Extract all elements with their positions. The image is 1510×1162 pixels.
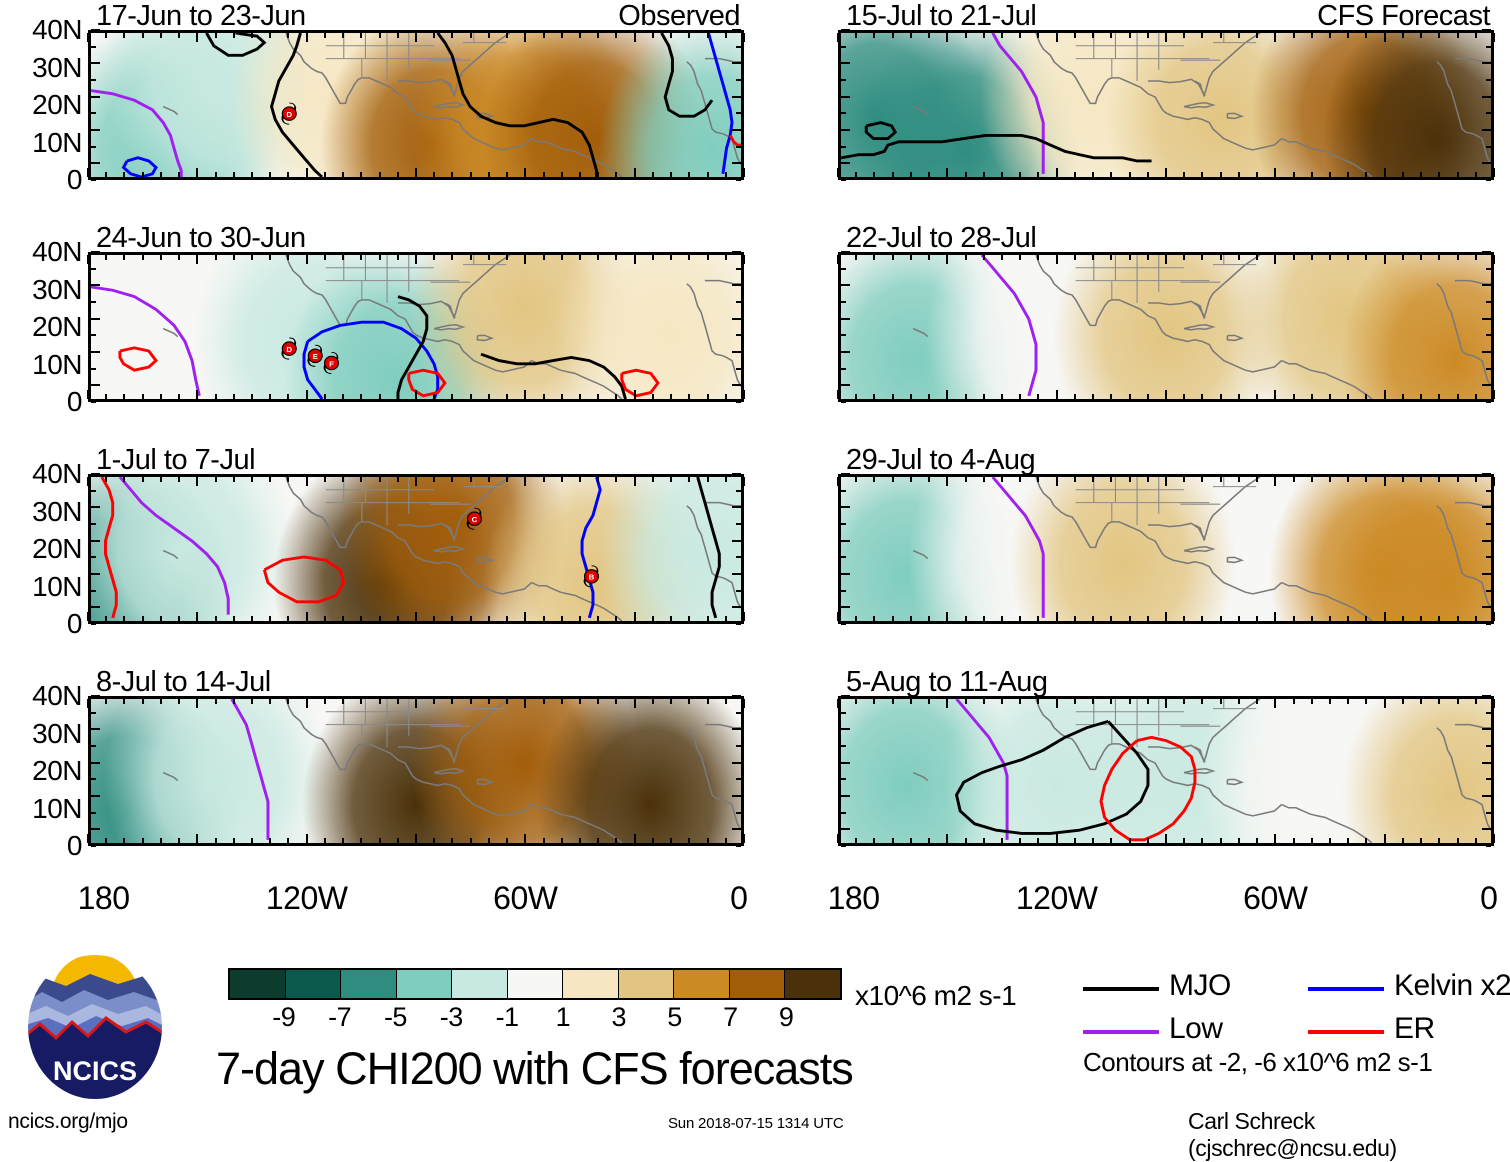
x-tick [160,255,162,260]
x-tick [1056,612,1058,621]
x-tick [965,255,967,260]
y-tick-mark [91,179,96,181]
y-tick-mark [91,384,100,386]
y-tick-mark [841,745,846,747]
x-tick [269,255,271,260]
colorbar-swatch-0 [230,970,286,998]
map-obs-2: D E F [88,252,744,402]
colorbar-units-label: x10^6 m2 s-1 [855,980,1016,1012]
y-tick-mark [1486,556,1491,558]
x-tick [87,612,89,621]
map-field-obs-3: C B [91,477,741,621]
x-tick [1201,394,1203,399]
x-tick [1220,616,1222,621]
x-tick [965,172,967,177]
x-tick [1329,616,1331,621]
x-tick [1037,477,1039,482]
x-tick [287,699,289,704]
y-tick-mark [841,812,846,814]
y-tick-mark [1486,523,1491,525]
x-tick [543,477,545,482]
x-tick [983,699,985,704]
y-tick-mark [1486,812,1491,814]
y-tick-20N: 20N [4,311,82,343]
footer-link[interactable]: ncics.org/mjo [8,1110,128,1134]
y-tick-mark [91,284,100,286]
x-tick [488,616,490,621]
x-tick [652,172,654,177]
x-tick [634,834,636,843]
x-tick [688,172,690,177]
y-tick-mark [841,79,846,81]
y-tick-mark [1486,845,1491,847]
x-tick [928,477,930,482]
x-tick [837,477,839,486]
x-tick [379,394,381,399]
y-tick-mark [841,473,850,475]
x-tick [1384,477,1386,486]
x-tick [1274,33,1276,42]
x-tick [1129,477,1131,482]
x-tick [233,255,235,260]
x-tick [379,838,381,843]
x-tick [251,616,253,621]
y-tick-mark [91,146,96,148]
y-tick-mark [1486,268,1491,270]
x-tick [287,172,289,177]
x-tick [415,699,417,708]
x-tick [215,33,217,38]
x-tick [634,699,636,708]
x-tick [1384,33,1386,42]
x-tick [215,616,217,621]
x-tick [1201,699,1203,704]
x-tick [178,477,180,482]
x-tick [1274,477,1276,486]
legend-line-swatch [1308,987,1384,991]
x-tick [946,477,948,486]
x-tick [470,394,472,399]
x-tick [360,172,362,177]
x-tick [87,390,89,399]
x-tick [1019,255,1021,260]
x-tick [1147,255,1149,260]
x-tick [196,168,198,177]
x-tick [707,838,709,843]
y-tick-mark [841,334,846,336]
x-tick [1183,699,1185,704]
x-tick [87,255,89,264]
x-tick [123,616,125,621]
x-tick [892,477,894,482]
x-tick [1129,33,1131,38]
y-tick-mark [736,556,741,558]
y-tick-mark [91,728,100,730]
x-tick [1183,838,1185,843]
x-tick [1092,394,1094,399]
x-tick [873,33,875,38]
x-tick [1329,838,1331,843]
x-tick [1274,699,1276,708]
y-tick-mark [91,401,96,403]
x-tick [196,612,198,621]
x-tick [397,33,399,38]
x-tick [1311,477,1313,482]
legend-line-swatch [1083,987,1159,991]
y-tick-mark [91,162,100,164]
map-obs-1: D [88,30,744,180]
x-tick [855,394,857,399]
x-tick [1238,616,1240,621]
x-tick [725,838,727,843]
x-tick [1147,172,1149,177]
y-tick-mark [91,540,100,542]
x-tick [1493,168,1495,177]
x-tick [1384,834,1386,843]
x-tick [1365,699,1367,704]
x-tick [105,616,107,621]
x-tick [652,33,654,38]
x-tick [910,699,912,704]
x-tick [615,33,617,38]
x-tick [142,838,144,843]
y-tick-mark [91,268,96,270]
y-tick-mark [1486,179,1491,181]
y-tick-0: 0 [4,830,82,862]
x-tick [87,834,89,843]
x-tick [251,255,253,260]
x-tick [269,616,271,621]
x-tick [910,838,912,843]
y-tick-30N: 30N [4,718,82,750]
x-tick [488,699,490,704]
x-tick [652,838,654,843]
x-tick [1183,33,1185,38]
y-tick-mark [736,334,741,336]
x-tick [743,168,745,177]
ncics-logo-svg: NCICS [22,952,168,1102]
x-tick [1019,394,1021,399]
y-tick-mark [736,523,741,525]
x-tick [1365,477,1367,482]
x-tick [597,255,599,260]
x-tick [324,616,326,621]
x-tick [1311,699,1313,704]
x-tick [725,616,727,621]
y-tick-mark [91,301,96,303]
map-fcst-3 [838,474,1494,624]
x-tick [470,616,472,621]
x-tick [379,616,381,621]
y-tick-10N: 10N [4,349,82,381]
x-tick [233,838,235,843]
x-tick [360,255,362,260]
colorbar-tick-9: 9 [779,1002,794,1033]
y-tick-mark [732,351,741,353]
x-tick [1147,477,1149,482]
x-tick [855,838,857,843]
x-tick [488,394,490,399]
anomaly-region [104,699,332,843]
x-tick [743,699,745,708]
x-tick-label-180: 180 [828,880,880,917]
y-tick-0: 0 [4,386,82,418]
x-tick [433,616,435,621]
x-tick-label-120W: 120W [1016,880,1098,917]
y-tick-mark [841,351,850,353]
svg-text:F: F [329,359,334,368]
x-tick [142,394,144,399]
panel-title-fcst-3: 29-Jul to 4-Aug [846,444,1035,477]
x-tick [1165,612,1167,621]
x-tick [1256,699,1258,704]
x-tick [928,838,930,843]
x-tick [965,699,967,704]
x-tick [1311,33,1313,38]
x-tick [579,394,581,399]
x-tick [1420,838,1422,843]
x-tick [215,394,217,399]
x-tick [306,699,308,708]
x-tick [488,255,490,260]
y-tick-mark [841,318,850,320]
map-fcst-4 [838,696,1494,846]
x-tick [451,699,453,704]
y-tick-mark [736,623,741,625]
x-tick [1074,255,1076,260]
x-tick [1475,33,1477,38]
x-tick [983,616,985,621]
x-tick [1475,699,1477,704]
x-tick [1402,172,1404,177]
x-tick [652,699,654,704]
x-tick [1220,33,1222,38]
x-tick [1056,255,1058,264]
y-tick-mark [1486,368,1491,370]
x-tick [178,838,180,843]
x-tick [269,477,271,482]
x-tick [1220,172,1222,177]
x-tick [873,477,875,482]
x-tick [142,33,144,38]
x-tick [873,838,875,843]
y-tick-10N: 10N [4,571,82,603]
x-tick [178,616,180,621]
x-tick [1329,172,1331,177]
x-tick [360,477,362,482]
x-tick [543,394,545,399]
y-tick-mark [732,129,741,131]
x-tick [160,838,162,843]
x-tick [946,612,948,621]
x-tick [707,172,709,177]
x-tick [1256,477,1258,482]
x-tick [360,699,362,704]
x-tick [1129,699,1131,704]
y-tick-mark [1482,129,1491,131]
y-tick-mark [841,384,850,386]
x-tick [946,834,948,843]
y-tick-mark [91,506,100,508]
x-tick [1402,616,1404,621]
x-tick [1220,255,1222,260]
x-tick [1201,172,1203,177]
y-tick-mark [841,251,850,253]
x-tick [688,255,690,260]
x-tick [524,255,526,264]
y-tick-mark [732,162,741,164]
y-tick-mark [91,745,96,747]
x-tick [1347,699,1349,704]
y-tick-mark [841,762,850,764]
x-tick [251,33,253,38]
x-tick [233,33,235,38]
x-tick [1001,172,1003,177]
y-tick-mark [841,695,850,697]
x-tick [1019,699,1021,704]
x-tick [634,33,636,42]
x-tick [1220,838,1222,843]
x-tick [269,33,271,38]
x-tick [1311,394,1313,399]
y-tick-mark [841,795,850,797]
y-tick-30N: 30N [4,52,82,84]
colorbar-tick--1: -1 [496,1002,519,1033]
x-tick [506,477,508,482]
column-header-left: Observed [618,0,740,33]
y-tick-mark [841,606,850,608]
x-tick [1420,33,1422,38]
x-tick [1165,699,1167,708]
y-tick-mark [841,62,850,64]
x-tick [1110,616,1112,621]
x-tick [1274,834,1276,843]
x-tick [233,699,235,704]
x-tick [1129,255,1131,260]
x-tick [1274,255,1276,264]
x-tick [707,33,709,38]
x-tick [160,394,162,399]
x-tick [1402,394,1404,399]
x-tick [873,699,875,704]
x-tick [397,838,399,843]
y-tick-mark [732,251,741,253]
y-tick-mark [841,112,846,114]
x-tick [196,255,198,264]
y-tick-mark [736,301,741,303]
x-tick [1365,255,1367,260]
x-tick [1037,255,1039,260]
credit-line: Carl Schreck (cjschrec@ncsu.edu) [1188,1108,1510,1162]
x-tick [1019,616,1021,621]
x-tick [892,838,894,843]
x-tick [1475,477,1477,482]
x-tick [946,699,948,708]
x-tick [1329,699,1331,704]
x-tick [287,838,289,843]
x-tick [965,838,967,843]
y-tick-mark [736,745,741,747]
x-tick [233,394,235,399]
y-tick-mark [91,473,100,475]
x-tick [707,394,709,399]
y-tick-mark [736,778,741,780]
x-tick [965,394,967,399]
x-tick [1001,699,1003,704]
x-tick [415,168,417,177]
x-tick [965,477,967,482]
x-tick [615,255,617,260]
x-tick [1493,699,1495,708]
x-tick [1384,255,1386,264]
x-tick [1256,838,1258,843]
x-tick [488,33,490,38]
x-tick [1256,172,1258,177]
x-tick [524,168,526,177]
x-tick [1001,394,1003,399]
x-tick [543,699,545,704]
y-tick-mark [91,112,96,114]
svg-text:D: D [286,110,292,119]
y-tick-mark [736,179,741,181]
x-tick [342,394,344,399]
y-tick-20N: 20N [4,533,82,565]
x-tick [561,838,563,843]
x-tick [1092,699,1094,704]
x-tick-label-60W: 60W [493,880,557,917]
x-tick [451,838,453,843]
colorbar-swatch-4 [452,970,508,998]
y-tick-mark [91,96,100,98]
x-tick [160,33,162,38]
x-tick [1438,394,1440,399]
x-tick [1402,477,1404,482]
x-tick [524,699,526,708]
x-tick [543,172,545,177]
x-tick [892,255,894,260]
y-tick-mark [1486,112,1491,114]
panel-title-fcst-2: 22-Jul to 28-Jul [846,222,1036,255]
x-tick [1074,477,1076,482]
y-tick-mark [91,812,96,814]
x-tick [561,699,563,704]
x-tick [1110,477,1112,482]
x-tick [1438,477,1440,482]
y-tick-mark [91,46,96,48]
y-tick-mark [91,318,100,320]
x-tick [652,255,654,260]
x-tick [1056,477,1058,486]
x-tick [233,477,235,482]
y-tick-mark [1482,384,1491,386]
x-tick [397,699,399,704]
x-tick [269,172,271,177]
x-tick [397,394,399,399]
y-tick-mark [1482,695,1491,697]
x-tick [451,616,453,621]
x-tick [87,168,89,177]
x-tick [1329,394,1331,399]
y-tick-mark [1486,46,1491,48]
y-tick-mark [841,129,850,131]
y-tick-mark [1482,606,1491,608]
anomaly-region [91,477,295,621]
ncics-logo: NCICS [22,952,168,1102]
y-tick-mark [91,590,96,592]
x-tick [928,699,930,704]
x-tick [251,172,253,177]
x-tick [215,699,217,704]
